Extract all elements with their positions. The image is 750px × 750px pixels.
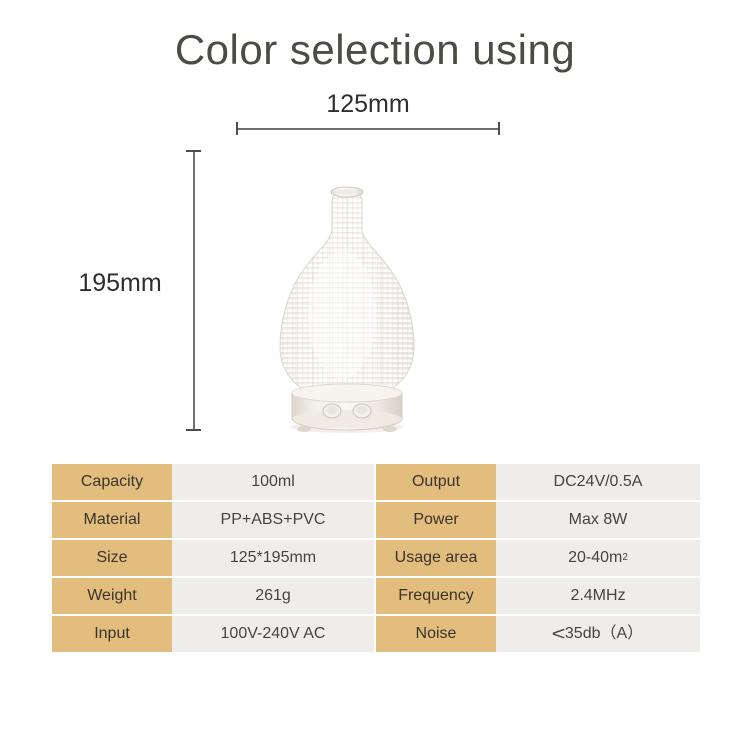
spec-value-power: Max 8W <box>496 502 700 538</box>
page-title: Color selection using <box>0 26 750 74</box>
height-dimension-cap-top <box>186 150 201 152</box>
spec-value-output: DC24V/0.5A <box>496 464 700 500</box>
width-dimension-line <box>236 128 500 130</box>
spec-value-input: 100V-240V AC <box>172 616 374 652</box>
spec-label-usage-area: Usage area <box>376 540 496 576</box>
spec-value-capacity: 100ml <box>172 464 374 500</box>
width-dimension-label: 125mm <box>236 90 500 119</box>
height-dimension-cap-bottom <box>186 429 201 431</box>
spec-label-material: Material <box>52 502 172 538</box>
product-figure: 125mm 195mm <box>0 95 750 455</box>
spec-value-noise: <35db（A） <box>496 616 700 652</box>
noise-text: 35db（A） <box>565 626 643 642</box>
spec-label-output: Output <box>376 464 496 500</box>
height-dimension-line <box>193 151 195 431</box>
width-dimension-cap-right <box>498 122 500 135</box>
spec-label-capacity: Capacity <box>52 464 172 500</box>
usage-area-text: 20-40m <box>568 550 622 566</box>
spec-value-material: PP+ABS+PVC <box>172 502 374 538</box>
spec-label-noise: Noise <box>376 616 496 652</box>
spec-value-weight: 261g <box>172 578 374 614</box>
spec-value-usage-area: 20-40m2 <box>496 540 700 576</box>
spec-value-frequency: 2.4MHz <box>496 578 700 614</box>
usage-area-superscript: 2 <box>622 553 628 563</box>
spec-label-frequency: Frequency <box>376 578 496 614</box>
spec-value-size: 125*195mm <box>172 540 374 576</box>
spec-label-input: Input <box>52 616 172 652</box>
aroma-diffuser-image <box>262 175 432 440</box>
less-than-icon: < <box>551 625 565 644</box>
spec-label-weight: Weight <box>52 578 172 614</box>
spec-label-size: Size <box>52 540 172 576</box>
width-dimension-cap-left <box>236 122 238 135</box>
height-dimension-label: 195mm <box>60 269 180 298</box>
specification-table: Capacity 100ml Output DC24V/0.5A Materia… <box>52 464 700 652</box>
spec-label-power: Power <box>376 502 496 538</box>
